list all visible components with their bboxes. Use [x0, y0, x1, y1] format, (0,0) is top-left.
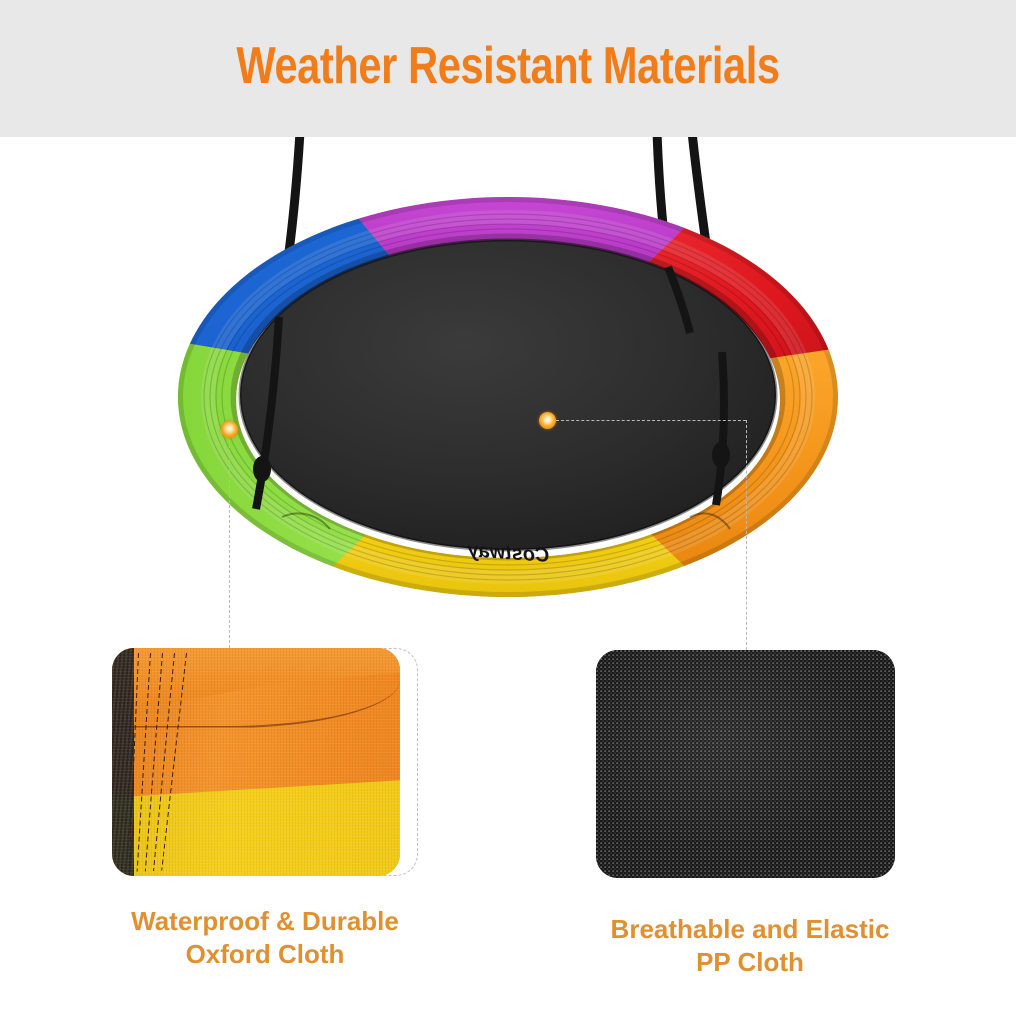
callout-dot-pp[interactable] — [539, 412, 556, 429]
pp-cloth-swatch — [596, 650, 895, 878]
saucer-swing-illustration: Costway — [0, 137, 1016, 637]
swing-seat-mesh — [240, 240, 776, 550]
infographic-page: Weather Resistant Materials — [0, 0, 1016, 1016]
page-title: Weather Resistant Materials — [102, 34, 915, 98]
caption-oxford: Waterproof & Durable Oxford Cloth — [95, 905, 435, 971]
callout-dot-oxford[interactable] — [221, 421, 238, 438]
leader-line-pp-horizontal — [556, 420, 746, 421]
oxford-cloth-swatch — [112, 648, 400, 876]
leader-line-pp-vertical — [746, 420, 747, 650]
leader-line-oxford — [229, 440, 230, 648]
caption-pp: Breathable and Elastic PP Cloth — [580, 913, 920, 979]
pp-sheen-highlight — [596, 650, 895, 878]
product-hero-image: Costway — [0, 137, 1016, 637]
